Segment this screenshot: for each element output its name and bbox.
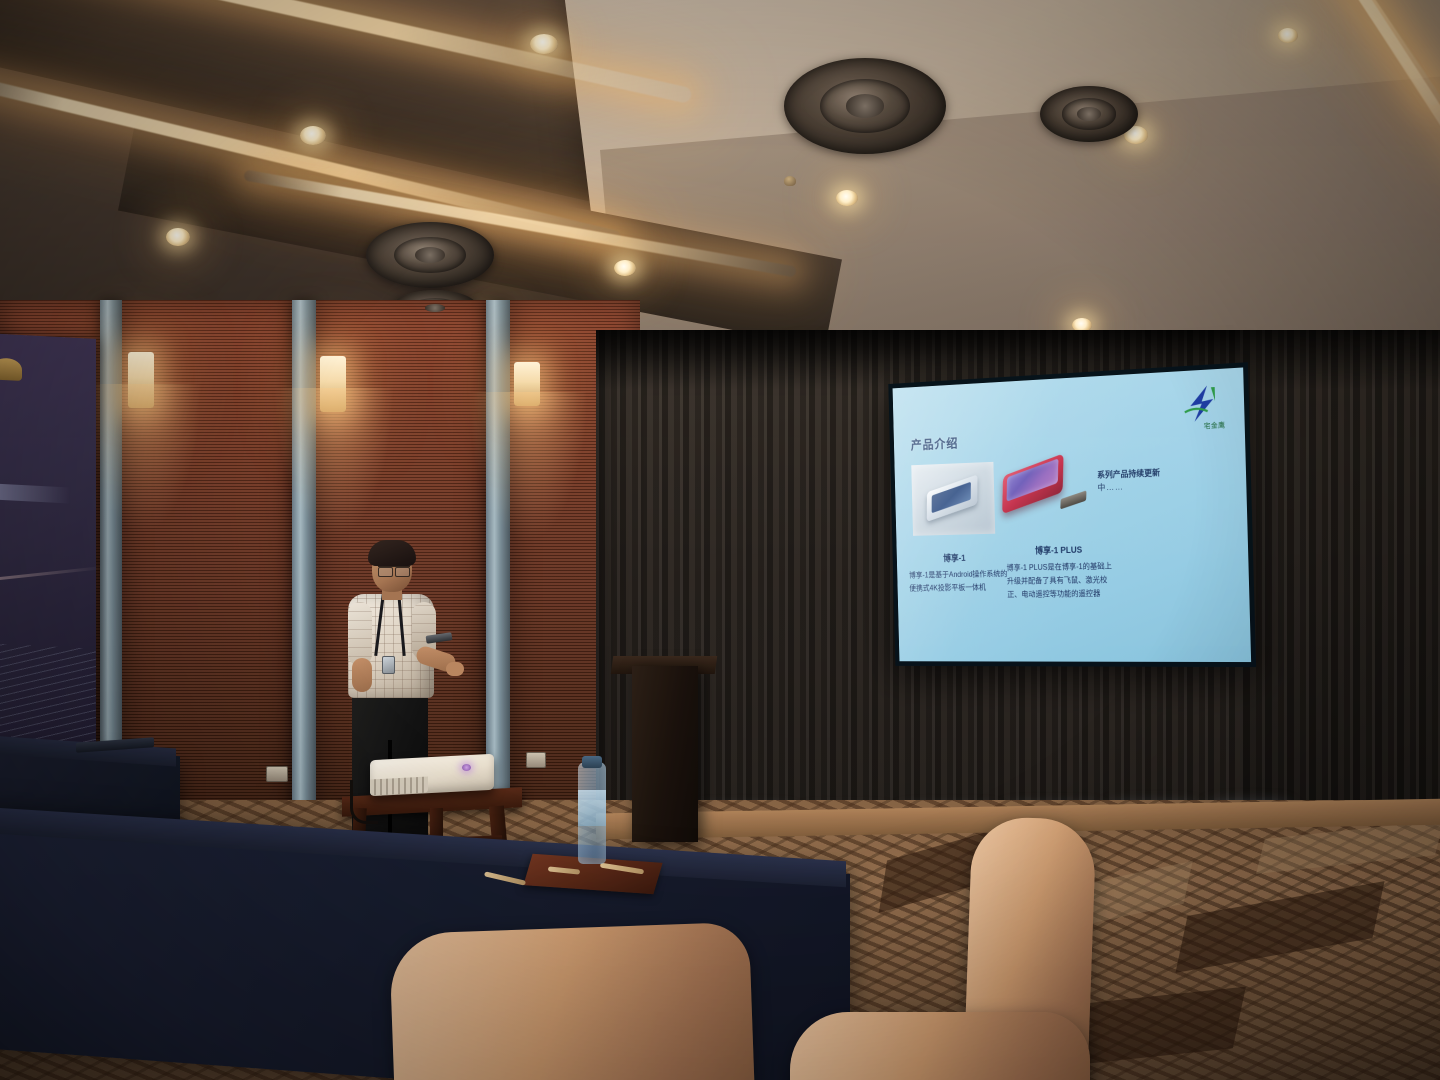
power-outlet-icon [266,766,288,782]
downlight-icon [614,260,636,276]
stage-curtain-right [1240,330,1440,850]
conference-room-photo: 产品介绍 宅金鹰 系列产品持续更新 中…… [0,0,1440,1080]
product-a-description: 博享-1是基于Android操作系统的便携式4K投影平板一体机 [909,567,1011,595]
product-a-image [911,462,995,536]
water-bottle-label [578,790,606,826]
lectern [632,666,698,842]
wall-sconce [320,356,346,412]
air-diffuser-icon [366,222,494,288]
downlight-icon [836,190,858,206]
wall-sconce [128,352,154,408]
side-note-line2: 中…… [1097,478,1200,494]
projection-screen-frame: 产品介绍 宅金鹰 系列产品持续更新 中…… [888,362,1256,667]
product-a-caption: 博享-1 [907,551,1003,565]
product-b-device [1002,453,1063,514]
product-b-description: 博享-1 PLUS是在博享-1的基础上升级并配备了具有飞鼠、激光校正、电动遥控等… [1006,560,1118,602]
air-diffuser-icon [1040,86,1138,142]
wall-pilaster [292,300,316,820]
air-diffuser-icon [784,58,946,154]
presenter-left-arm [348,602,372,666]
downlight-icon [1278,28,1298,43]
projector-cable [350,780,378,824]
downlight-icon [166,228,190,246]
product-b-image [997,452,1091,526]
product-a-device [927,474,978,521]
wall-sconce [514,362,540,406]
roll-up-banner [0,333,96,769]
glasses-icon [378,566,410,575]
banner-graphic-line [0,566,104,581]
product-b-caption: 博享-1 PLUS [1006,542,1112,557]
presenter-badge [382,656,395,674]
chair-shading [790,1012,1090,1080]
chair-shading [389,922,755,1080]
banquet-chair [790,1012,1090,1080]
presenter-right-hand [446,662,464,676]
downlight-icon [530,34,558,54]
presenter-left-forearm [352,658,372,692]
brand-name: 宅金鹰 [1204,420,1226,431]
wall-pilaster [486,300,510,820]
water-bottle-cap [582,756,602,768]
projector-lens-icon [462,764,471,771]
slide-title: 产品介绍 [911,433,959,453]
banner-text-block [0,483,70,503]
sprinkler-icon [784,176,796,186]
presenter-hair [368,540,416,566]
projection-screen[interactable]: 产品介绍 宅金鹰 系列产品持续更新 中…… [893,367,1252,662]
slide-side-note: 系列产品持续更新 中…… [1097,465,1200,494]
banquet-chair [389,922,755,1080]
power-outlet-icon [526,752,546,768]
product-b-accessory [1060,490,1086,509]
downlight-icon [300,126,326,145]
banner-emblem [0,357,22,381]
projector-vent [370,776,428,795]
